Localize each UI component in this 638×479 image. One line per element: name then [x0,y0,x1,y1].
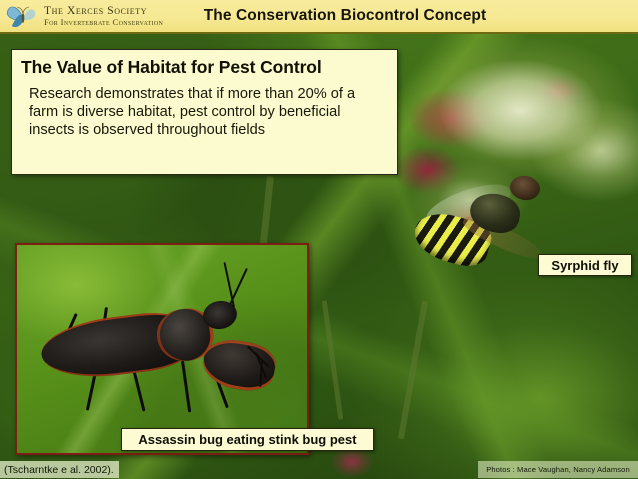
xerces-society-logo: The Xerces Society For Invertebrate Cons… [6,0,163,32]
fly-head [508,174,542,203]
photo-stem [398,301,428,440]
callout-box: The Value of Habitat for Pest Control Re… [11,49,398,175]
callout-title: The Value of Habitat for Pest Control [21,57,397,78]
assassin-bug-photo [15,243,309,455]
assassin-bug-caption: Assassin bug eating stink bug pest [121,428,374,451]
syrphid-fly-caption: Syrphid fly [538,254,632,276]
assassin-bug-subject [35,291,285,421]
callout-body-text: Research demonstrates that if more than … [29,85,385,140]
butterfly-icon [6,1,40,31]
photo-credit-text: Photos : Mace Vaughan, Nancy Adamson [478,461,638,478]
syrphid-fly-subject [402,168,562,296]
bug-leg [181,361,191,413]
presentation-slide: The Xerces Society For Invertebrate Cons… [0,0,638,479]
logo-line-1: The Xerces Society [44,6,163,18]
citation-text: (Tscharntke e al. 2002). [0,461,119,478]
logo-wordmark: The Xerces Society For Invertebrate Cons… [44,5,163,27]
logo-line-2: For Invertebrate Conservation [44,18,163,27]
photo-stem [322,300,344,420]
